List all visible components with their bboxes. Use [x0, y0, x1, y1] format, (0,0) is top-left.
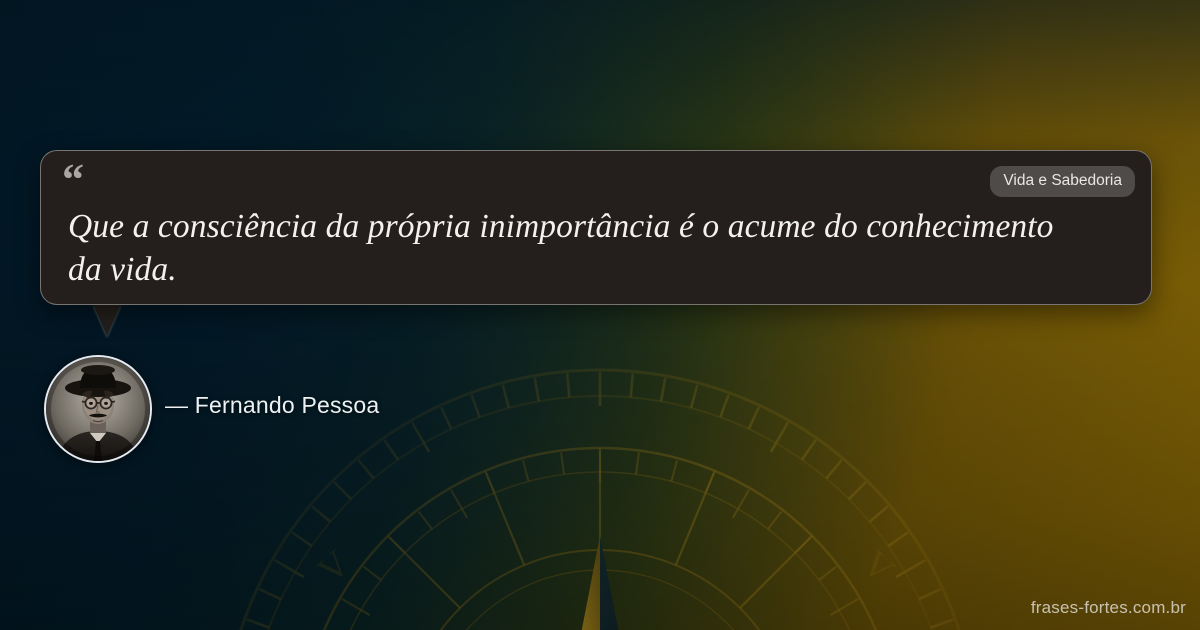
- site-watermark: frases-fortes.com.br: [1031, 598, 1186, 618]
- open-quote-icon: “: [62, 158, 83, 202]
- quote-card: S V V E E Vida e Sabedoria “ Que a consc…: [0, 0, 1200, 630]
- avatar: [44, 355, 152, 463]
- quote-text: Que a consciência da própria inimportânc…: [68, 205, 1068, 291]
- speech-bubble-tail: [93, 304, 121, 336]
- author-name: — Fernando Pessoa: [165, 392, 379, 419]
- category-badge[interactable]: Vida e Sabedoria: [990, 166, 1135, 197]
- background-vignette: [0, 0, 1200, 630]
